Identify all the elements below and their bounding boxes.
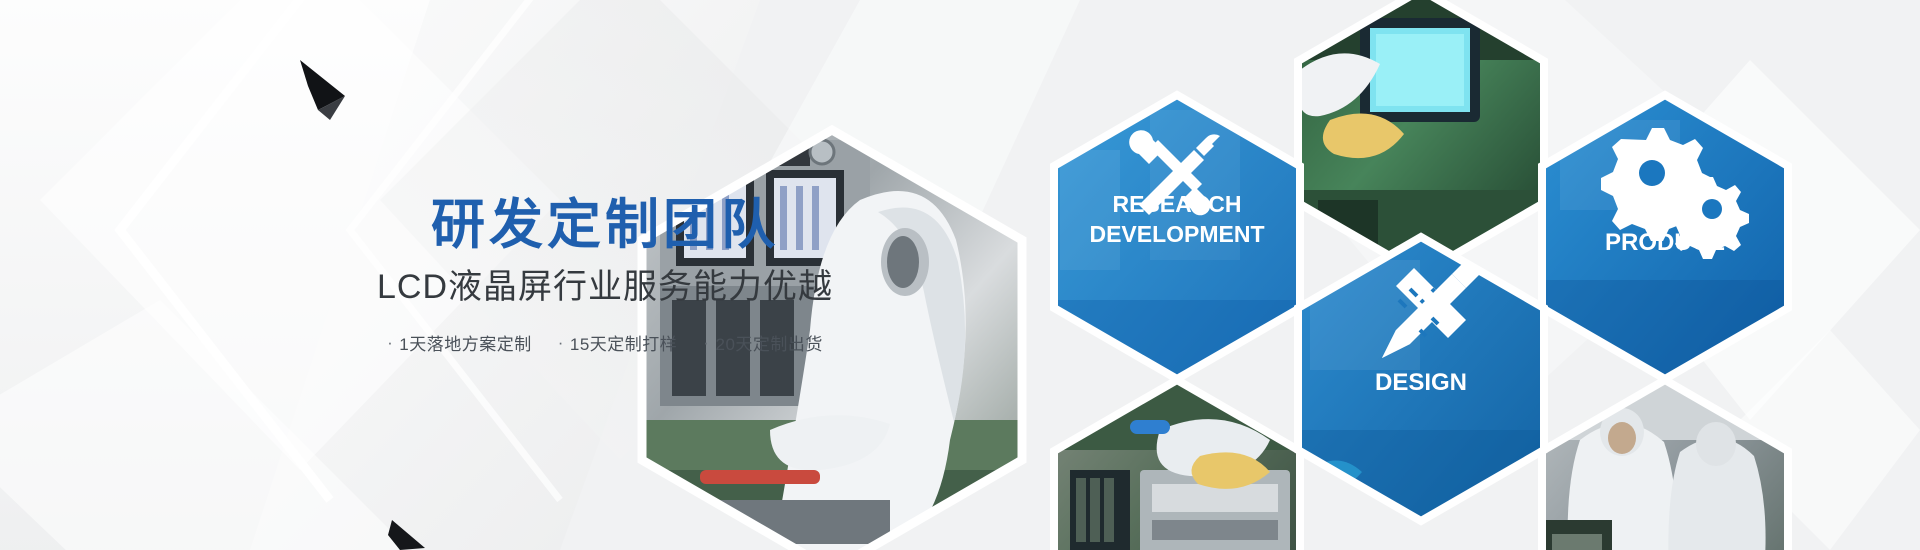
page-subtitle: LCD液晶屏行业服务能力优越 bbox=[345, 267, 865, 308]
bullet-icon: · bbox=[703, 334, 709, 351]
list-item: · 15天定制打样 bbox=[558, 330, 678, 355]
hexagon-tile-design[interactable]: DESIGN bbox=[1298, 237, 1544, 530]
hexagon-label-line1: DESIGN bbox=[1375, 369, 1467, 396]
bullet-icon: · bbox=[558, 334, 564, 351]
feature-list: · 1天落地方案定制 · 15天定制打样 · 20天定制出货 bbox=[345, 330, 865, 355]
bullet-icon: · bbox=[387, 334, 393, 351]
hexagon-label-line1: RESEARCH bbox=[1112, 191, 1241, 217]
feature-label: 15天定制打样 bbox=[570, 330, 677, 355]
feature-label: 1天落地方案定制 bbox=[399, 330, 531, 355]
hexagon-label-line2: DEVELOPMENT bbox=[1089, 221, 1264, 247]
hexagon-photo-workers-line bbox=[1542, 380, 1788, 550]
list-item: · 1天落地方案定制 bbox=[387, 330, 532, 355]
hexagon-label-line1: PRODUCE bbox=[1605, 229, 1725, 256]
banner-text-block: 研发定制团队 LCD液晶屏行业服务能力优越 · 1天落地方案定制 · 15天定制… bbox=[345, 195, 865, 355]
hexagon-tile-research-development[interactable]: RESEARCH DEVELOPMENT bbox=[1054, 95, 1300, 390]
hexagon-cluster: RESEARCH DEVELOPMENT bbox=[0, 0, 1920, 550]
list-item: · 20天定制出货 bbox=[703, 330, 823, 355]
page-title: 研发定制团队 bbox=[345, 195, 865, 255]
hexagon-tile-produce[interactable]: PRODUCE bbox=[1542, 95, 1788, 390]
feature-label: 20天定制出货 bbox=[715, 330, 822, 355]
hexagon-photo-assembly bbox=[1054, 380, 1300, 550]
promo-banner: 研发定制团队 LCD液晶屏行业服务能力优越 · 1天落地方案定制 · 15天定制… bbox=[0, 0, 1920, 550]
